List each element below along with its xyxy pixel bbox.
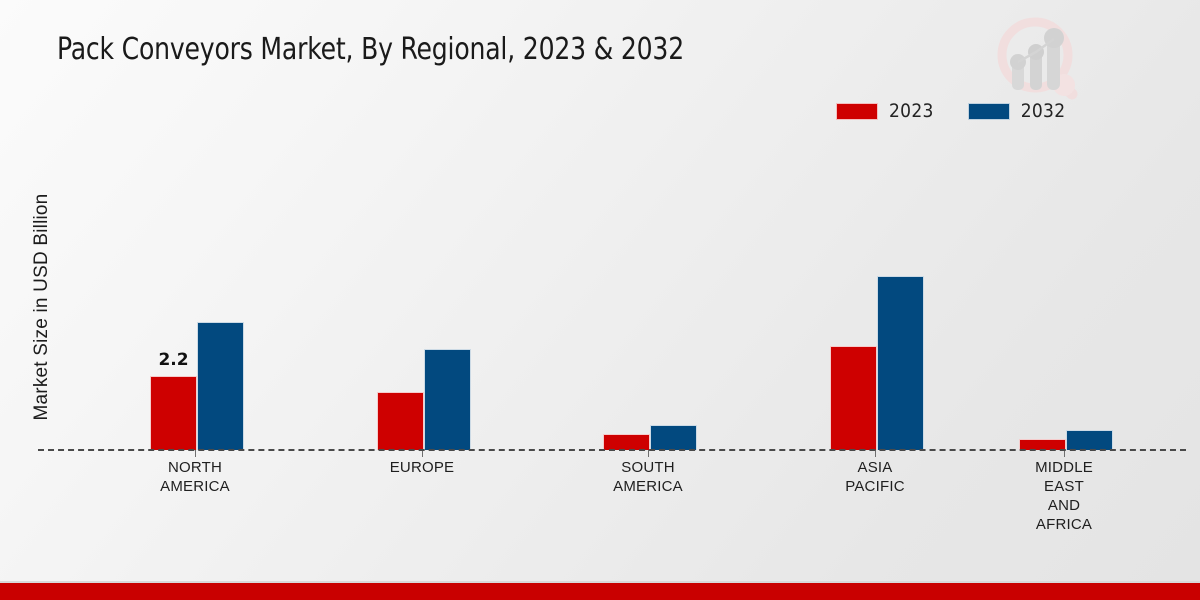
bar-2032-south-america[interactable]: [650, 425, 697, 450]
bar-2023-europe[interactable]: [377, 392, 424, 450]
bar-2032-north-america[interactable]: [197, 322, 244, 450]
legend-item-2023[interactable]: 2023: [836, 100, 934, 122]
bar-group: EUROPE: [377, 140, 467, 450]
x-axis-tick: [648, 450, 649, 457]
bar-2032-europe[interactable]: [424, 349, 471, 450]
x-axis-category-label: SOUTHAMERICA: [613, 458, 683, 496]
x-axis-tick: [195, 450, 196, 457]
x-axis-category-label: MIDDLEEASTANDAFRICA: [1035, 458, 1093, 534]
watermark-logo: [988, 12, 1088, 104]
x-axis-tick: [1064, 450, 1065, 457]
legend-label-2023: 2023: [889, 100, 934, 122]
x-axis-category-label: ASIAPACIFIC: [845, 458, 904, 496]
bar-2023-south-america[interactable]: [603, 434, 650, 450]
x-axis-category-label: EUROPE: [390, 458, 455, 477]
bar-group: SOUTHAMERICA: [603, 140, 693, 450]
legend-item-2032[interactable]: 2032: [968, 100, 1066, 122]
bar-2032-middle-east-and-africa[interactable]: [1066, 430, 1113, 450]
chart-canvas: Pack Conveyors Market, By Regional, 2023…: [0, 0, 1200, 600]
bar-group: ASIAPACIFIC: [830, 140, 920, 450]
bar-group: MIDDLEEASTANDAFRICA: [1019, 140, 1109, 450]
bar-2032-asia-pacific[interactable]: [877, 276, 924, 450]
bar-value-label: 2.2: [158, 350, 188, 370]
bar-2023-north-america[interactable]: 2.2: [150, 376, 197, 450]
bar-2023-asia-pacific[interactable]: [830, 346, 877, 450]
chart-legend: 2023 2032: [836, 100, 1065, 122]
page-title: Pack Conveyors Market, By Regional, 2023…: [57, 32, 684, 67]
x-axis-tick: [875, 450, 876, 457]
legend-swatch-2032: [968, 103, 1010, 120]
bar-group: 2.2NORTHAMERICA: [150, 140, 240, 450]
legend-swatch-2023: [836, 103, 878, 120]
bar-pair: 2.2: [150, 140, 244, 450]
x-axis-baseline: [38, 449, 1186, 451]
bar-pair: [603, 140, 697, 450]
bar-pair: [1019, 140, 1113, 450]
legend-label-2032: 2032: [1021, 100, 1066, 122]
bar-pair: [830, 140, 924, 450]
x-axis-tick: [422, 450, 423, 457]
footer-accent-bar: [0, 583, 1200, 600]
bar-pair: [377, 140, 471, 450]
x-axis-category-label: NORTHAMERICA: [160, 458, 230, 496]
plot-area: 2.2NORTHAMERICAEUROPESOUTHAMERICAASIAPAC…: [38, 140, 1186, 450]
